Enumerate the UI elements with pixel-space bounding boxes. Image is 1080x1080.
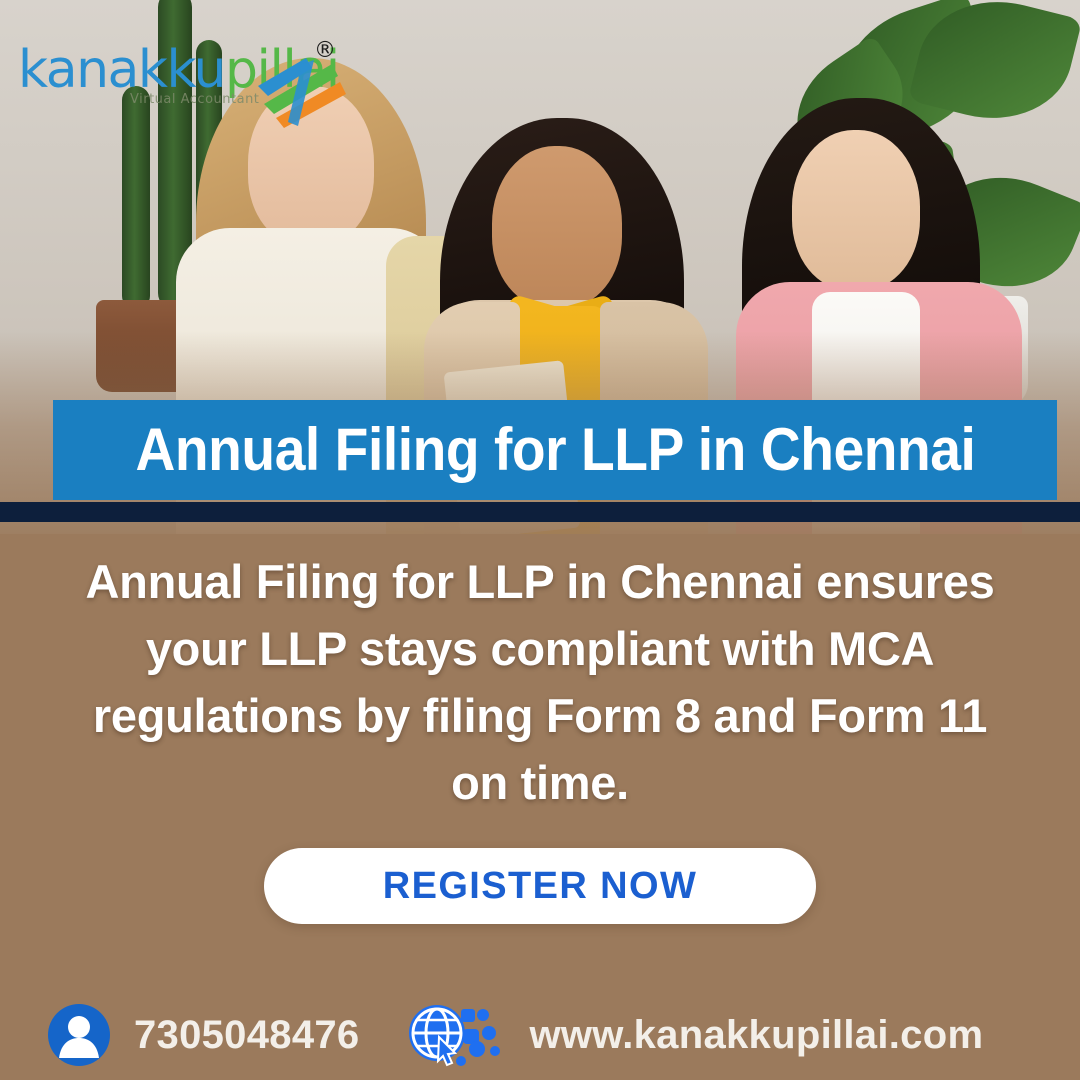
phone-contact[interactable]: 7305048476 [46,1002,359,1068]
headline-banner: Annual Filing for LLP in Chennai [53,400,1057,500]
navy-divider-bar [0,502,1080,522]
brand-logo[interactable]: kanakkupillai Virtual Accountant ® [18,30,348,116]
register-now-label: REGISTER NOW [383,865,697,908]
website-url: www.kanakkupillai.com [529,1013,983,1058]
globe-icon [403,999,507,1071]
promo-poster: kanakkupillai Virtual Accountant ® Annua… [0,0,1080,1080]
person-icon [46,1002,112,1068]
logo-swoosh-icon [254,52,350,134]
register-now-button[interactable]: REGISTER NOW [264,848,816,924]
phone-number: 7305048476 [134,1013,359,1058]
description-text: Annual Filing for LLP in Chennai ensures… [60,548,1020,816]
logo-text-primary: kanakku [18,40,225,100]
contact-footer: 7305048476 www.kanakkupillai.com [0,990,1080,1080]
page-title: Annual Filing for LLP in Chennai [135,420,975,480]
website-contact[interactable]: www.kanakkupillai.com [403,999,983,1071]
logo-tagline: Virtual Accountant [130,92,259,107]
